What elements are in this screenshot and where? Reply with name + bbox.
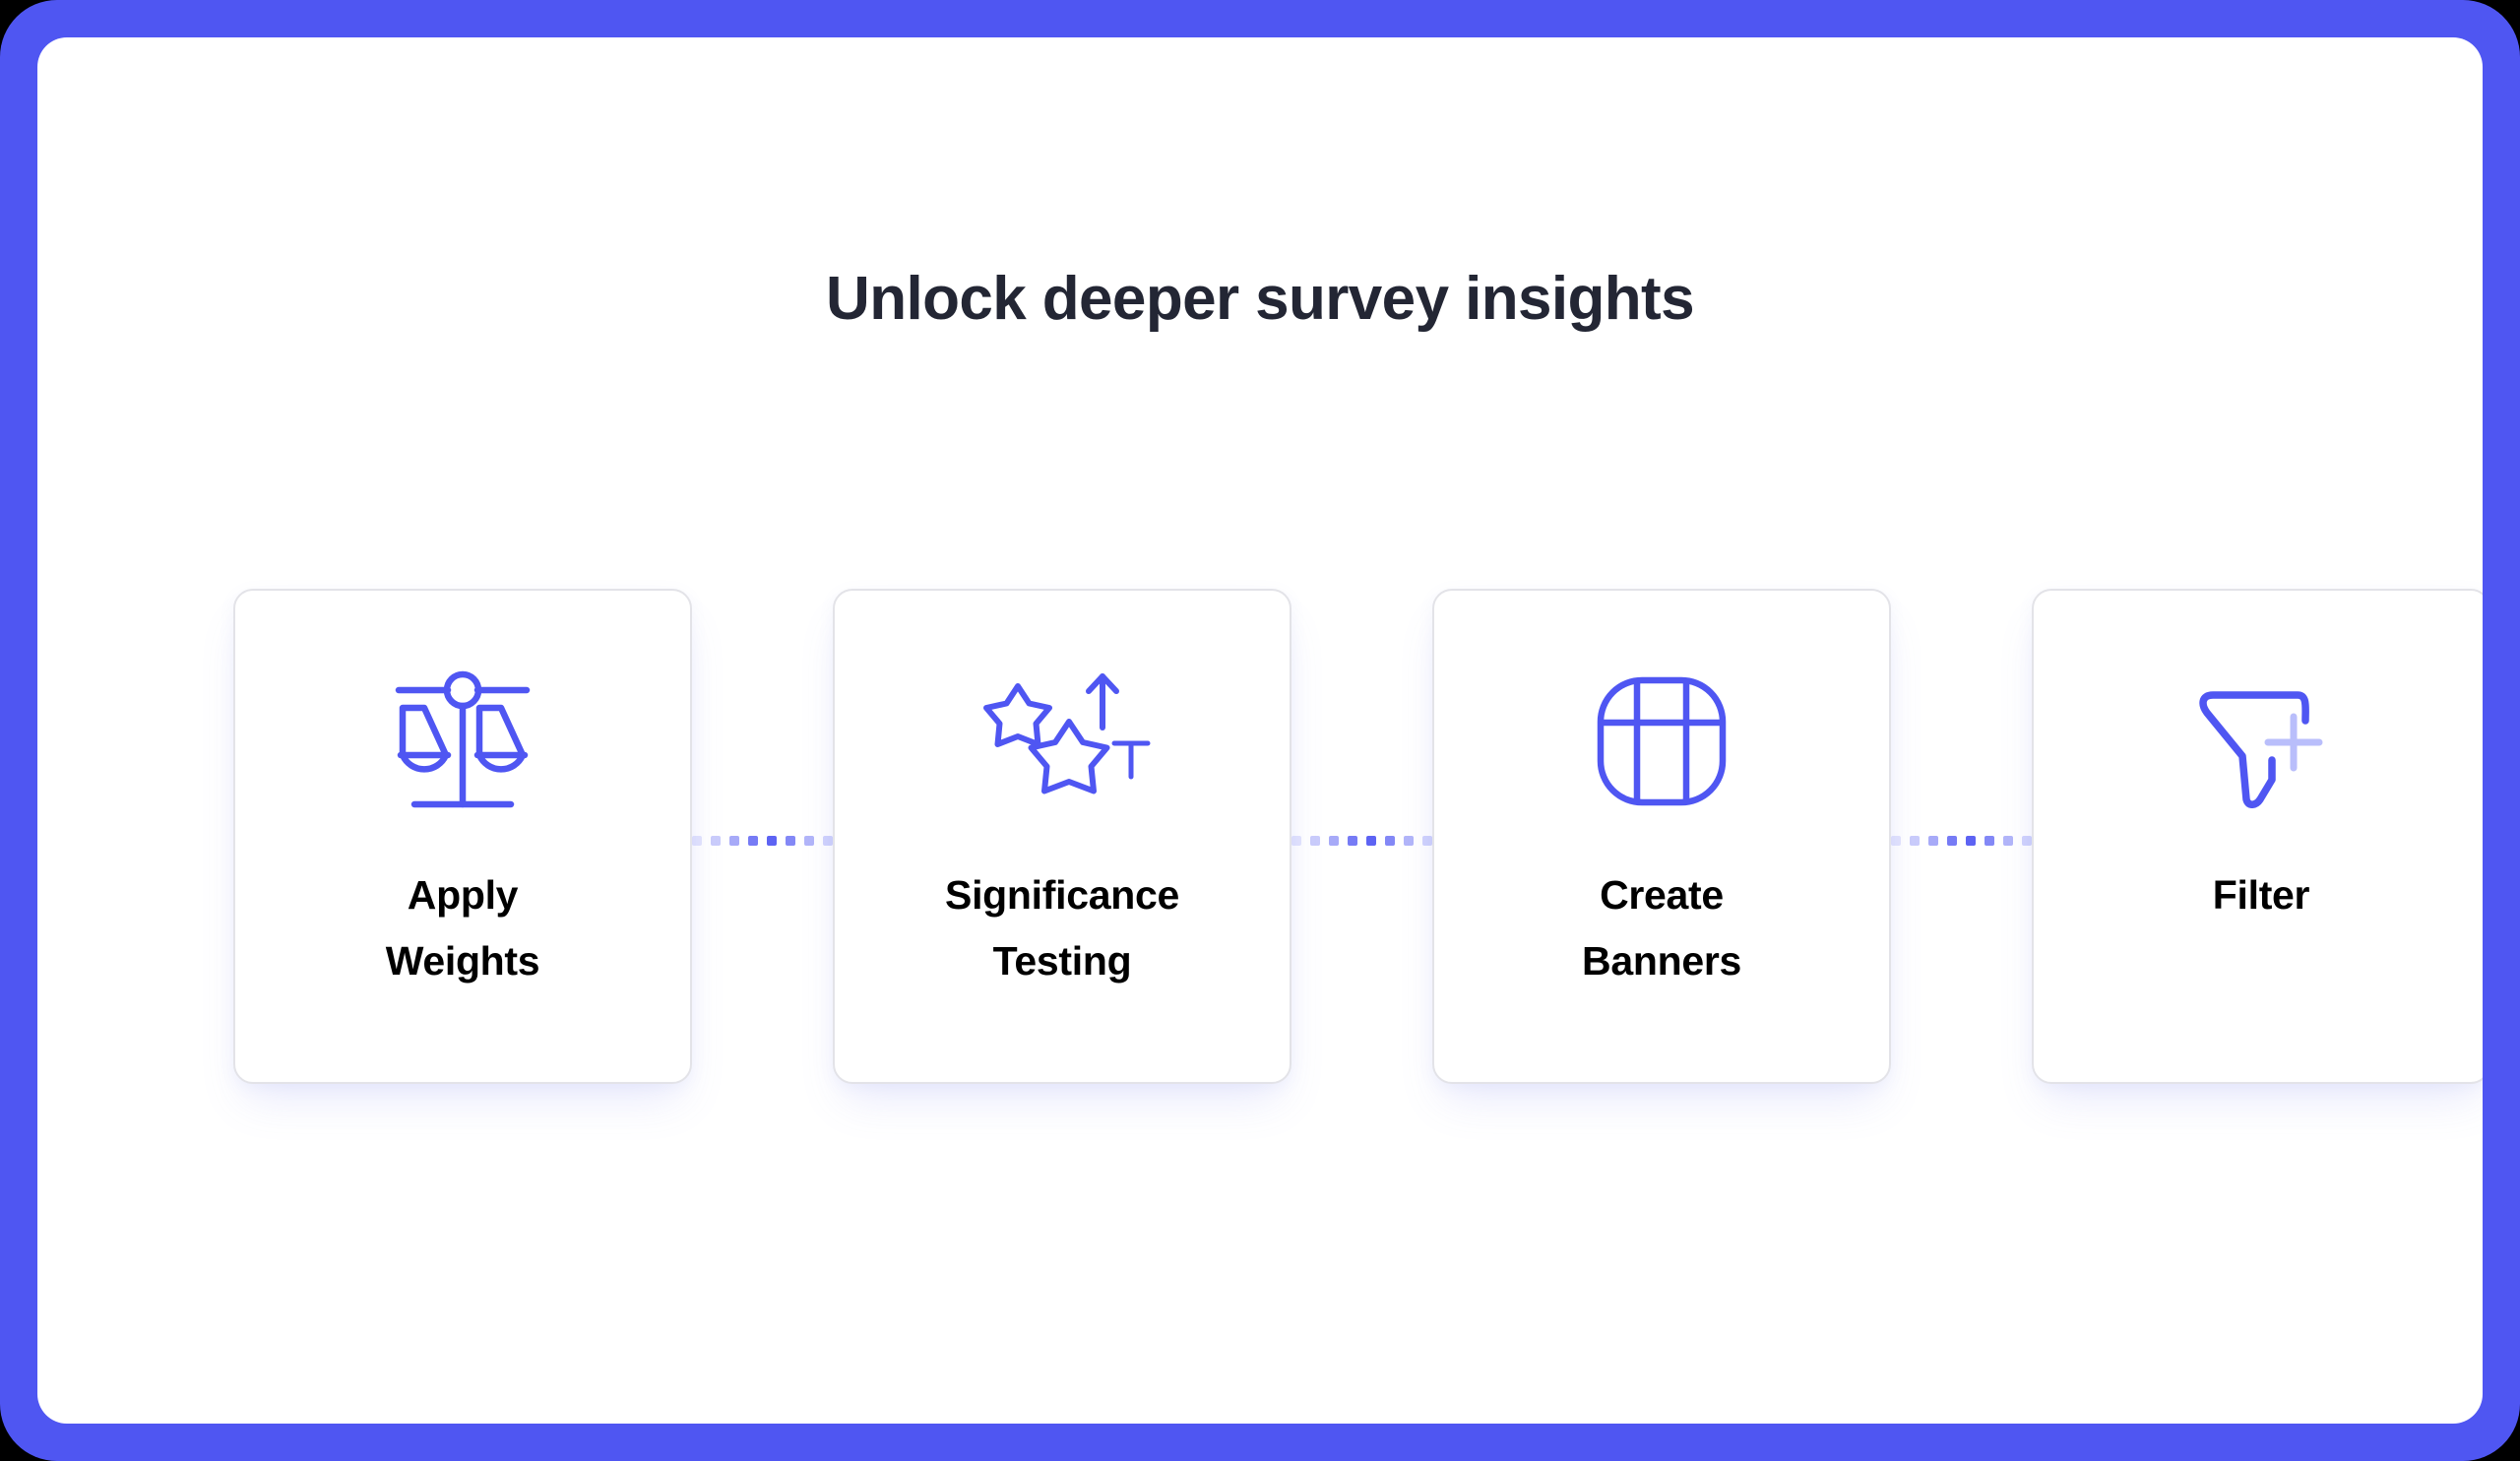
connector-dot [1984, 836, 1994, 846]
plus-glyph [2268, 717, 2319, 768]
connector-dot [711, 836, 721, 846]
feature-card-create-banners[interactable]: Create Banners [1432, 589, 1891, 1084]
feature-card-label: Create Banners [1434, 862, 1889, 994]
page-title: Unlock deeper survey insights [37, 266, 2483, 333]
app-window-frame: Unlock deeper survey insights [0, 0, 2520, 1461]
connector-dot [1404, 836, 1414, 846]
feature-card-row: Apply Weights [233, 551, 2362, 1122]
connector-dot [729, 836, 739, 846]
connector-dot [1366, 836, 1376, 846]
connector-dot [748, 836, 758, 846]
connector-dot [1310, 836, 1320, 846]
connector-dots-2 [1291, 835, 1432, 846]
connector-dot [1891, 836, 1901, 846]
connector-dot [767, 836, 777, 846]
connector-dots-1 [692, 835, 833, 846]
connector-dot [1291, 836, 1301, 846]
feature-card-apply-weights[interactable]: Apply Weights [233, 589, 692, 1084]
connector-dot [1329, 836, 1339, 846]
connector-dot [692, 836, 702, 846]
app-canvas: Unlock deeper survey insights [37, 37, 2483, 1424]
connector-dots-3 [1891, 835, 2032, 846]
connector-dot [1947, 836, 1957, 846]
feature-card-label: Significance Testing [835, 862, 1290, 994]
feature-card-label: Apply Weights [235, 862, 690, 994]
stars-arrow-t-icon [964, 667, 1161, 815]
connector-dot [1928, 836, 1938, 846]
connector-dot [786, 836, 795, 846]
connector-dot [1966, 836, 1976, 846]
funnel-plus-icon [2163, 667, 2360, 815]
connector-dot [2022, 836, 2032, 846]
balance-scale-icon [364, 667, 561, 815]
connector-dot [823, 836, 833, 846]
connector-dot [1385, 836, 1395, 846]
feature-card-filter[interactable]: Filter [2032, 589, 2483, 1084]
connector-dot [804, 836, 814, 846]
connector-dot [2003, 836, 2013, 846]
connector-dot [1422, 836, 1432, 846]
connector-dot [1910, 836, 1920, 846]
feature-card-label: Filter [2034, 862, 2483, 928]
connector-dot [1348, 836, 1357, 846]
feature-card-significance-testing[interactable]: Significance Testing [833, 589, 1291, 1084]
table-grid-icon [1563, 667, 1760, 815]
